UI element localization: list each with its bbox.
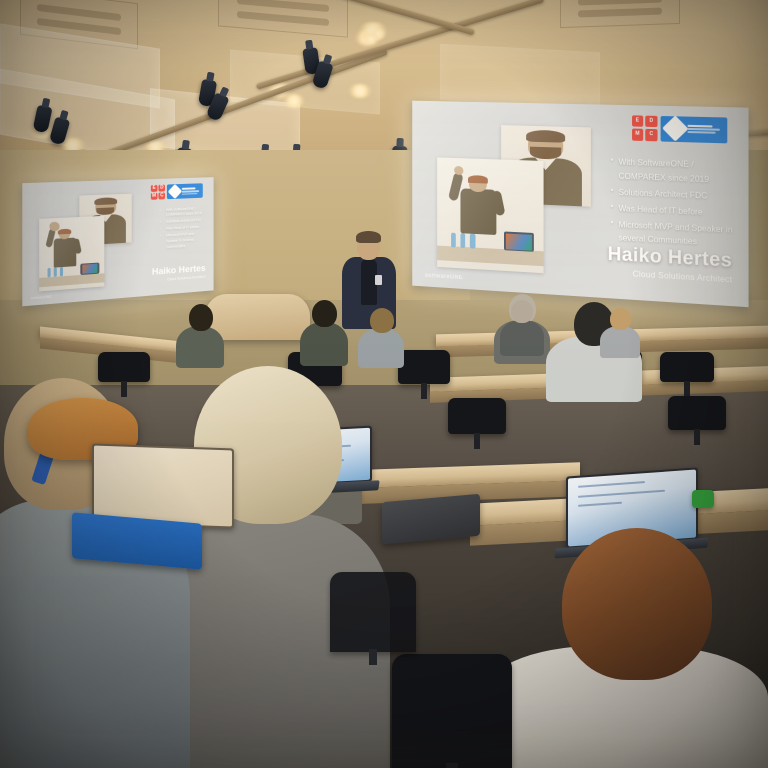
slide-bullet-list: With SoftwareONE / COMPAREX since 2019 S… [571,154,734,253]
logo-letter-e: E [151,185,158,192]
audience-person [358,308,404,366]
community-logo-icon: E D M C [151,184,165,200]
side-projection-screen: E D M C [22,177,213,306]
audience-person [600,308,640,354]
recessed-downlight [362,33,380,45]
slide-presenter-name-block: Haiko Hertes Cloud Solutions Architect [608,244,733,285]
slide-bullet: Microsoft MVP and Speaker in several Com… [158,231,206,251]
mvp-badge-text [688,125,723,133]
bottle-cap [692,490,714,508]
logo-letter-d: D [645,115,657,127]
ceiling-vent [218,0,348,38]
chair [392,654,512,768]
audience-person [500,300,544,352]
presentation-slide: E D M C [412,101,748,308]
audience-person [300,300,348,362]
recessed-downlight [283,94,305,108]
ceiling-tile [440,44,600,108]
mvp-diamond-icon [661,115,688,142]
chair [660,352,714,382]
slide-logo-row: E D M C [632,115,724,143]
chair [448,398,506,434]
logo-letter-m: M [151,193,158,200]
ceiling-vent [560,0,680,28]
chair [668,396,726,430]
logo-letter-m: M [632,129,644,141]
slide-bullet: Solutions Architect FDC [610,185,734,204]
audience-person-foreground-right [480,528,768,768]
slide-brand-logo: softwareONE [31,295,52,301]
mvp-diamond-icon [168,184,183,200]
logo-letter-c: C [159,193,166,200]
microsoft-mvp-badge-icon [167,183,203,199]
microsoft-mvp-badge-icon [661,116,727,143]
slide-brand-logo: softwareONE [425,273,463,281]
main-projection-screen: E D M C [412,101,748,308]
slide-logo-row: E D M C [151,183,201,200]
slide-bullet-list: With SoftwareONE / COMPAREX since 2019 S… [120,206,206,255]
speaker-badge [375,275,382,285]
presentation-slide-duplicate: E D M C [22,177,213,306]
chair [330,572,416,652]
logo-letter-c: C [645,129,657,141]
slide-presenter-name-block: Haiko Hertes Cloud Solutions Architect [152,263,206,283]
conference-room-photo: E D M C [0,0,768,768]
notebook-folder [382,494,480,545]
mvp-badge-text [182,187,201,195]
slide-bullet: With SoftwareONE / COMPAREX since 2019 [610,156,734,187]
logo-letter-d: D [159,184,166,191]
recessed-downlight [348,84,372,98]
community-logo-icon: E D M C [632,115,657,141]
audience-person [176,304,224,364]
slide-action-photo [437,157,544,273]
chair [398,350,450,384]
slide-action-photo [39,216,105,291]
logo-letter-e: E [632,115,644,127]
